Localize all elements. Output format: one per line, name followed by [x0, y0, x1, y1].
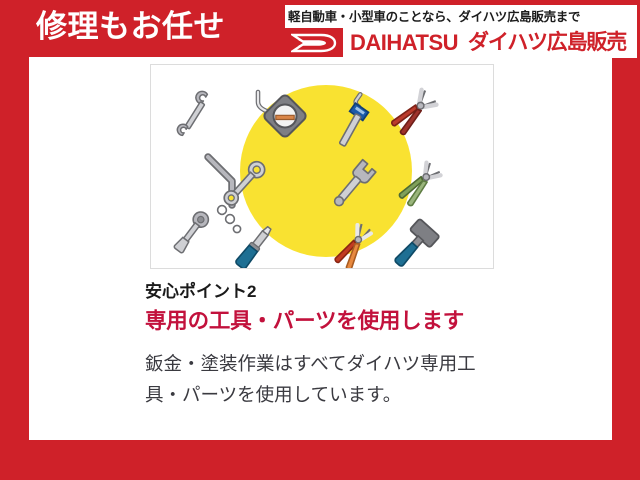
logo-emblem-container — [285, 28, 343, 58]
illustration-frame — [150, 64, 494, 269]
body-copy: 鈑金・塗装作業はすべてダイハツ専用工具・パーツを使用しています。 — [145, 348, 493, 410]
logo-row: DAIHATSU ダイハツ広島販売 — [285, 28, 637, 58]
open-end-wrench-icon — [174, 89, 210, 137]
daihatsu-d-emblem-icon — [291, 32, 337, 54]
socket-wrench-icon — [172, 206, 241, 255]
page-title: 修理もお任せ — [36, 6, 225, 48]
header-band: 修理もお任せ 軽自動車・小型車のことなら、ダイハツ広島販売まで DAIHATSU… — [0, 0, 640, 57]
brand-wordmark: DAIHATSU — [350, 28, 458, 58]
brand-logo-block: 軽自動車・小型車のことなら、ダイハツ広島販売まで DAIHATSU ダイハツ広島… — [285, 5, 637, 58]
brand-jp-name: ダイハツ広島販売 — [468, 28, 626, 58]
point-label: 安心ポイント2 — [145, 279, 545, 305]
headline: 専用の工具・パーツを使用します — [145, 309, 501, 334]
brand-tagline: 軽自動車・小型車のことなら、ダイハツ広島販売まで — [288, 6, 637, 28]
tools-illustration — [151, 65, 493, 268]
slide-page: 修理もお任せ 軽自動車・小型車のことなら、ダイハツ広島販売まで DAIHATSU… — [0, 0, 640, 480]
text-block: 安心ポイント2 専用の工具・パーツを使用します 鈑金・塗装作業はすべてダイハツ専… — [145, 279, 545, 410]
mallet-icon — [387, 218, 439, 268]
content-card: 安心ポイント2 専用の工具・パーツを使用します 鈑金・塗装作業はすべてダイハツ専… — [29, 57, 612, 440]
